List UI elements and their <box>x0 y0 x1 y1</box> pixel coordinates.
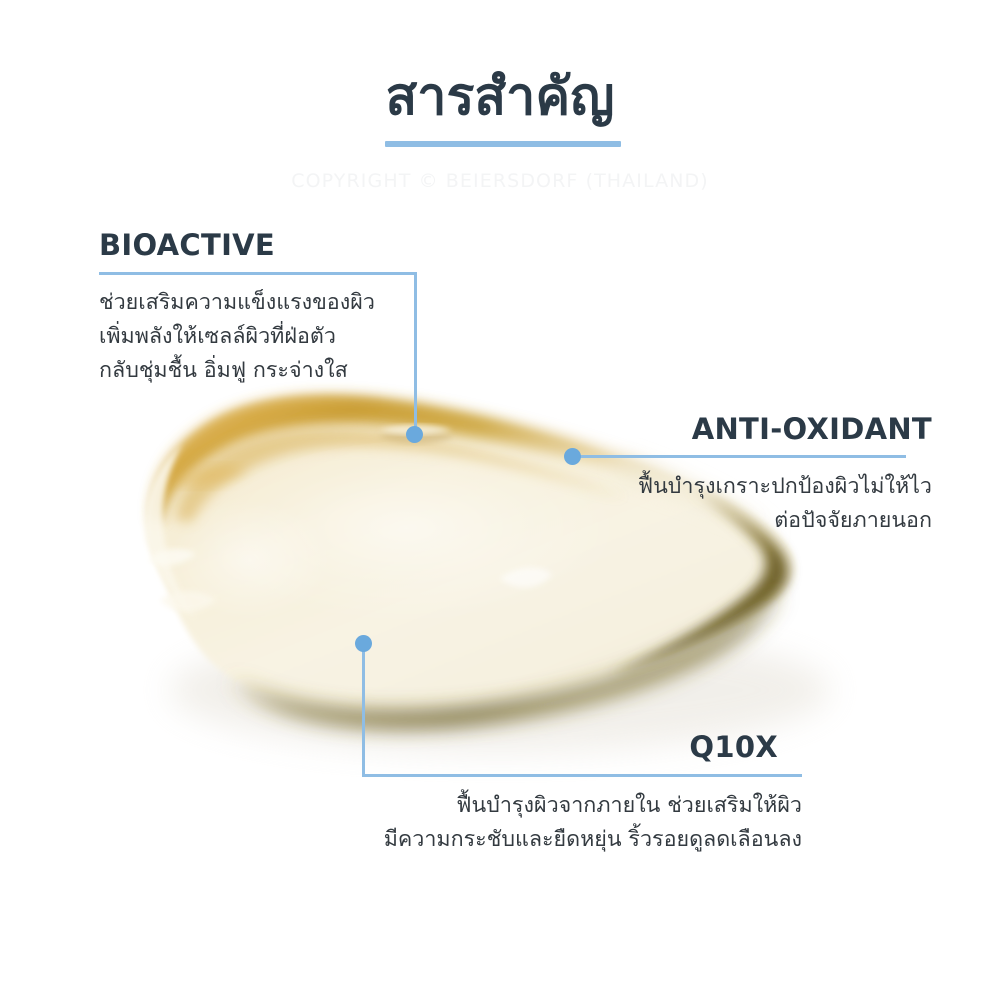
connector-line-q10x-vertical <box>362 650 365 777</box>
connector-dot-q10x <box>355 635 372 652</box>
callout-body-q10x: ฟื้นบำรุงผิวจากภายใน ช่วยเสริมให้ผิว มีค… <box>0 789 802 857</box>
callout-body-bioactive: ช่วยเสริมความแข็งแรงของผิว เพิ่มพลังให้เ… <box>99 286 375 388</box>
ingredient-infographic: สารสำคัญ COPYRIGHT © BEIERSDORF (THAILAN… <box>0 0 1000 1000</box>
copyright-watermark: COPYRIGHT © BEIERSDORF (THAILAND) <box>0 170 1000 192</box>
connector-line-bioactive-vertical <box>414 272 417 435</box>
callout-body-line: ฟื้นบำรุงผิวจากภายใน ช่วยเสริมให้ผิว <box>0 789 802 823</box>
cream-bottom-edge <box>232 592 782 727</box>
callout-body-line: ต่อปัจจัยภายนอก <box>0 504 932 538</box>
callout-body-line: เพิ่มพลังให้เซลล์ผิวที่ฝ่อตัว <box>99 320 375 354</box>
callout-heading-q10x: Q10X <box>0 730 778 764</box>
cream-dimple <box>500 568 552 588</box>
callout-body-line: ช่วยเสริมความแข็งแรงของผิว <box>99 286 375 320</box>
connector-line-q10x-horizontal <box>362 774 802 777</box>
callout-body-anti-oxidant: ฟื้นบำรุงเกราะปกป้องผิวไม่ให้ไว ต่อปัจจั… <box>0 470 932 538</box>
callout-heading-bioactive: BIOACTIVE <box>99 228 275 262</box>
callout-body-line: ฟื้นบำรุงเกราะปกป้องผิวไม่ให้ไว <box>0 470 932 504</box>
callout-body-line: กลับชุ่มชื้น อิ่มฟู กระจ่างใส <box>99 354 375 388</box>
connector-line-anti-oxidant <box>578 455 906 458</box>
page-title: สารสำคัญ <box>0 68 1000 128</box>
connector-line-bioactive-horizontal <box>99 272 417 275</box>
cream-left-blob-b <box>160 591 216 612</box>
callout-heading-anti-oxidant: ANTI-OXIDANT <box>0 412 932 446</box>
callout-body-line: มีความกระชับและยืดหยุ่น ริ้วรอยดูลดเลือน… <box>0 823 802 857</box>
title-underline <box>385 141 621 147</box>
connector-dot-anti-oxidant <box>564 448 581 465</box>
cream-left-blob-a <box>148 549 196 566</box>
